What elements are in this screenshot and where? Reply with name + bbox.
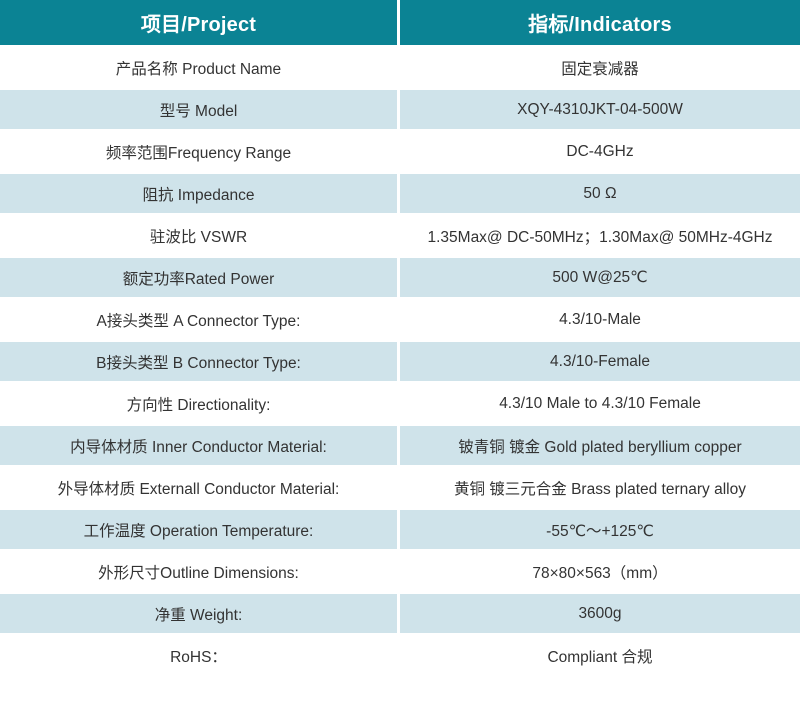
column-header-indicators: 指标/Indicators: [400, 0, 800, 48]
table-row: 外导体材质 Externall Conductor Material:黄铜 镀三…: [0, 468, 800, 510]
cell-project: 工作温度 Operation Temperature:: [0, 510, 400, 552]
table-row: 频率范围Frequency RangeDC-4GHz: [0, 132, 800, 174]
cell-project: 阻抗 Impedance: [0, 174, 400, 216]
table-row: B接头类型 B Connector Type:4.3/10-Female: [0, 342, 800, 384]
cell-project: 频率范围Frequency Range: [0, 132, 400, 174]
cell-project: 净重 Weight:: [0, 594, 400, 636]
cell-indicator: 铍青铜 镀金 Gold plated beryllium copper: [400, 426, 800, 468]
cell-indicator: 50 Ω: [400, 174, 800, 216]
cell-project: A接头类型 A Connector Type:: [0, 300, 400, 342]
table-row: A接头类型 A Connector Type:4.3/10-Male: [0, 300, 800, 342]
table-header-row: 项目/Project 指标/Indicators: [0, 0, 800, 48]
table-row: 外形尺寸Outline Dimensions:78×80×563（mm）: [0, 552, 800, 594]
cell-indicator: Compliant 合规: [400, 636, 800, 675]
table-row: 产品名称 Product Name固定衰减器: [0, 48, 800, 90]
table-row: 工作温度 Operation Temperature:-55℃～+125℃: [0, 510, 800, 552]
cell-project: 额定功率Rated Power: [0, 258, 400, 300]
table-row: 方向性 Directionality:4.3/10 Male to 4.3/10…: [0, 384, 800, 426]
table-row: 型号 ModelXQY-4310JKT-04-500W: [0, 90, 800, 132]
cell-project: 外形尺寸Outline Dimensions:: [0, 552, 400, 594]
cell-indicator: 4.3/10-Male: [400, 300, 800, 342]
cell-indicator: DC-4GHz: [400, 132, 800, 174]
table-row: 阻抗 Impedance50 Ω: [0, 174, 800, 216]
product-specification-table: 项目/Project 指标/Indicators 产品名称 Product Na…: [0, 0, 800, 675]
cell-indicator: 3600g: [400, 594, 800, 636]
table-row: 内导体材质 Inner Conductor Material:铍青铜 镀金 Go…: [0, 426, 800, 468]
cell-project: 产品名称 Product Name: [0, 48, 400, 90]
cell-indicator: 78×80×563（mm）: [400, 552, 800, 594]
table-row: 额定功率Rated Power500 W@25℃: [0, 258, 800, 300]
cell-project: 内导体材质 Inner Conductor Material:: [0, 426, 400, 468]
cell-indicator: 1.35Max@ DC-50MHz；1.30Max@ 50MHz-4GHz: [400, 216, 800, 258]
cell-indicator: XQY-4310JKT-04-500W: [400, 90, 800, 132]
cell-indicator: 4.3/10-Female: [400, 342, 800, 384]
cell-indicator: 500 W@25℃: [400, 258, 800, 300]
cell-project: RoHS：: [0, 636, 400, 675]
cell-project: B接头类型 B Connector Type:: [0, 342, 400, 384]
table-row: RoHS：Compliant 合规: [0, 636, 800, 675]
cell-indicator: 黄铜 镀三元合金 Brass plated ternary alloy: [400, 468, 800, 510]
cell-indicator: 4.3/10 Male to 4.3/10 Female: [400, 384, 800, 426]
cell-project: 外导体材质 Externall Conductor Material:: [0, 468, 400, 510]
table-body: 产品名称 Product Name固定衰减器型号 ModelXQY-4310JK…: [0, 48, 800, 675]
cell-indicator: -55℃～+125℃: [400, 510, 800, 552]
cell-project: 方向性 Directionality:: [0, 384, 400, 426]
column-header-project: 项目/Project: [0, 0, 400, 48]
cell-indicator: 固定衰减器: [400, 48, 800, 90]
table-row: 驻波比 VSWR1.35Max@ DC-50MHz；1.30Max@ 50MHz…: [0, 216, 800, 258]
cell-project: 型号 Model: [0, 90, 400, 132]
table-header: 项目/Project 指标/Indicators: [0, 0, 800, 48]
table-row: 净重 Weight:3600g: [0, 594, 800, 636]
cell-project: 驻波比 VSWR: [0, 216, 400, 258]
